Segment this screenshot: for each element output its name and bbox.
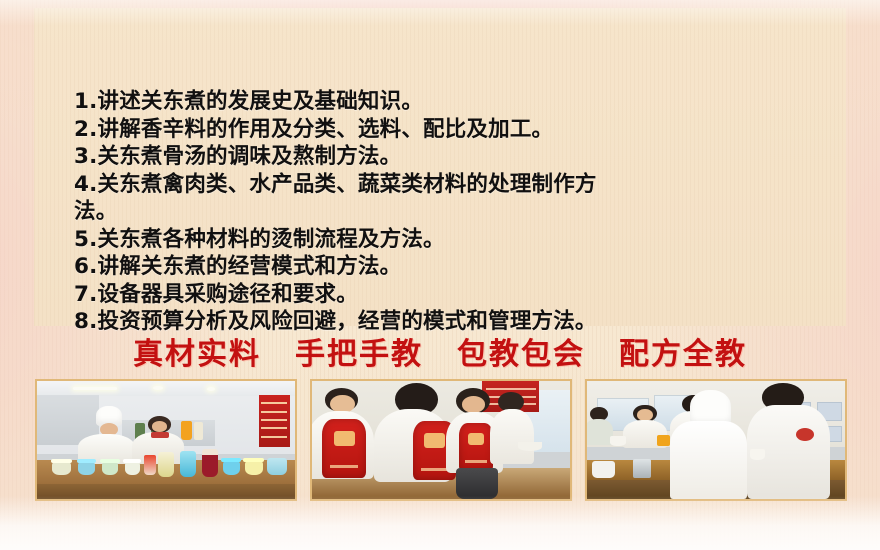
outline-text: 关东煮骨汤的调味及熬制方法。 [98, 144, 402, 169]
outline-text: 关东煮禽肉类、水产品类、蔬菜类材料的处理制作方 [98, 172, 597, 197]
dessert-cup [223, 461, 240, 475]
juice-bottle [194, 422, 203, 440]
outline-number: 5. [74, 227, 98, 252]
outline-number: 7. [74, 282, 98, 307]
outline-line: 1.讲述关东煮的发展史及基础知识。 [74, 88, 804, 116]
slogan-item-2: 手把手教 [295, 329, 423, 373]
photo-strip [35, 379, 847, 501]
cup [610, 436, 625, 445]
outline-text: 讲解关东煮的经营模式和方法。 [98, 254, 402, 279]
dessert-cup [78, 462, 95, 475]
ceiling-light-icon [153, 386, 163, 390]
slogan-item-3: 包教包会 [457, 329, 585, 373]
slogan-item-1: 真材实料 [133, 329, 261, 373]
slogan-item-4: 配方全教 [619, 329, 747, 373]
tall-glass-berry [202, 449, 217, 476]
tall-glass-cyan [180, 451, 195, 477]
tall-glass-cream [158, 452, 173, 477]
blender [633, 459, 651, 478]
outline-number: 6. [74, 254, 98, 279]
dessert-cup [125, 462, 140, 475]
dessert-cup [52, 462, 70, 475]
red-apron [459, 423, 493, 470]
photo-1-scene [37, 381, 295, 499]
chef-body [670, 421, 747, 499]
staff-body [585, 419, 613, 445]
outline-line: 5.关东煮各种材料的烫制流程及方法。 [74, 226, 804, 254]
pitcher [592, 461, 615, 478]
outline-text: 法。 [74, 199, 117, 224]
ceiling-light-icon [207, 387, 215, 391]
outline-text: 设备器具采购途径和要求。 [98, 282, 358, 307]
dessert-cup [102, 462, 119, 475]
course-outline-list: 1.讲述关东煮的发展史及基础知识。 2.讲解香辛料的作用及分类、选料、配比及加工… [74, 88, 804, 336]
outline-line: 6.讲解关东煮的经营模式和方法。 [74, 253, 804, 281]
student-face [462, 396, 485, 413]
slogan-banner: 真材实料 手把手教 包教包会 配方全教 [0, 326, 880, 376]
bowl [518, 442, 541, 450]
menu-board [259, 395, 290, 447]
tall-glass-blue [144, 455, 156, 475]
student-body [490, 409, 534, 463]
outline-number: 2. [74, 117, 98, 142]
outline-line-continuation: 法。 [74, 198, 804, 226]
pitcher [267, 458, 288, 476]
training-photo-1 [35, 379, 297, 501]
juice-bottle [181, 421, 191, 440]
juice-glass [657, 435, 670, 446]
outline-text: 讲解香辛料的作用及分类、选料、配比及加工。 [98, 117, 554, 142]
cup [750, 449, 765, 460]
student-scarf [151, 432, 169, 438]
outline-line: 7.设备器具采购途径和要求。 [74, 281, 804, 309]
photo-3-scene [587, 381, 845, 499]
outline-line: 2.讲解香辛料的作用及分类、选料、配比及加工。 [74, 116, 804, 144]
dessert-cup [245, 461, 263, 475]
photo-2-scene [312, 381, 570, 499]
outline-number: 3. [74, 144, 98, 169]
outline-line: 4.关东煮禽肉类、水产品类、蔬菜类材料的处理制作方 [74, 171, 804, 199]
red-apron [322, 419, 366, 478]
ceiling-light-icon [73, 387, 117, 390]
poster-canvas: 1.讲述关东煮的发展史及基础知识。 2.讲解香辛料的作用及分类、选料、配比及加工… [0, 0, 880, 550]
outline-text: 讲述关东煮的发展史及基础知识。 [98, 89, 424, 114]
student-face [152, 421, 167, 432]
bottom-fade-overlay [0, 496, 880, 550]
training-photo-3 [585, 379, 847, 501]
outline-number: 4. [74, 172, 98, 197]
outline-line: 3.关东煮骨汤的调味及熬制方法。 [74, 143, 804, 171]
outline-number: 1. [74, 89, 98, 114]
training-photo-2 [310, 379, 572, 501]
cooking-pot [456, 468, 497, 499]
counter-base [37, 484, 295, 499]
outline-text: 关东煮各种材料的烫制流程及方法。 [98, 227, 445, 252]
